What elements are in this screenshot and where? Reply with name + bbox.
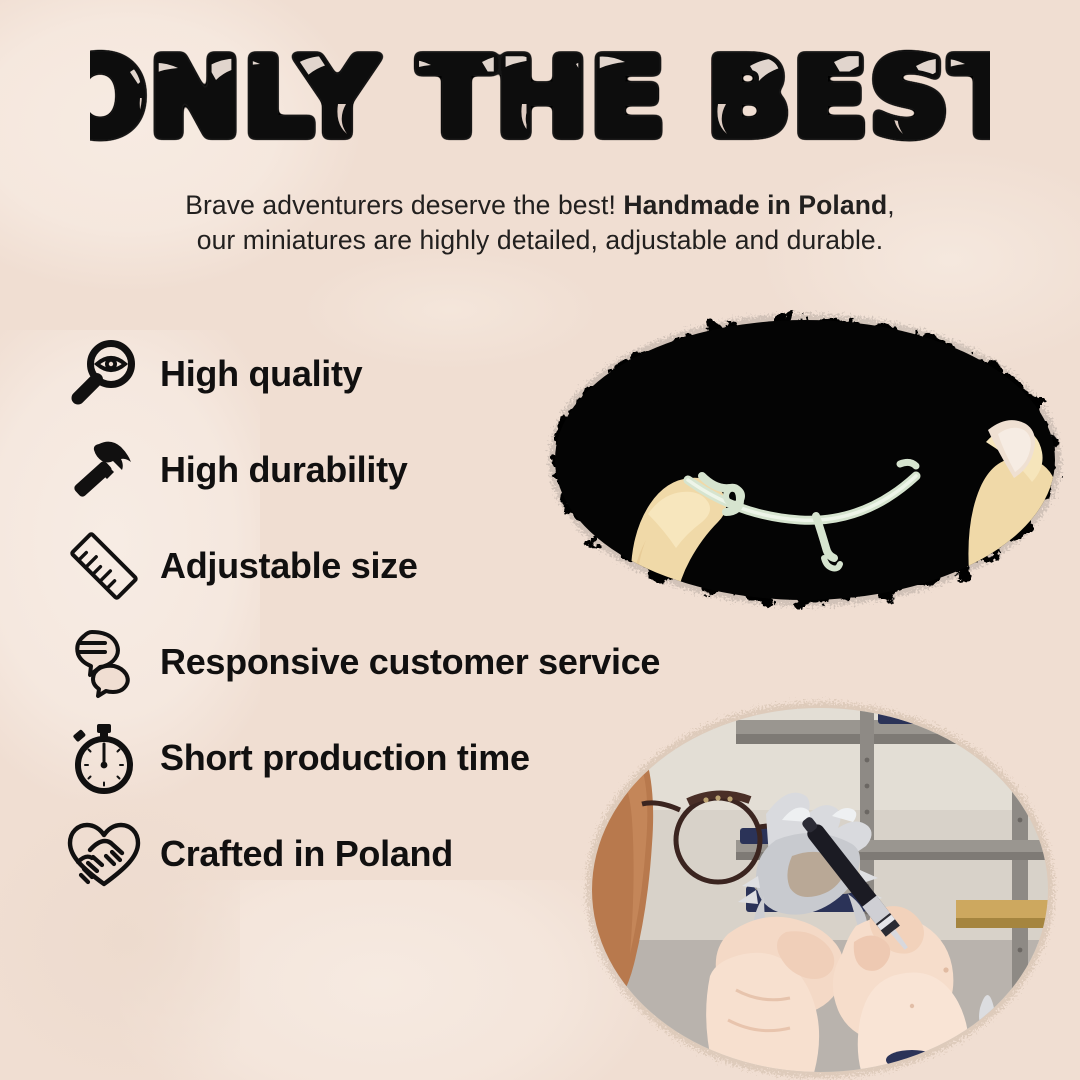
- hammer-icon: [62, 428, 146, 512]
- heart-handshake-icon: [62, 812, 146, 896]
- headline: ONLY THE BEST ONLY THE BEST: [0, 38, 1080, 168]
- feature-label: High quality: [160, 353, 362, 395]
- feature-label: Responsive customer service: [160, 641, 660, 683]
- subheading-highlight: Handmade in Poland: [623, 190, 887, 220]
- stopwatch-icon: [62, 716, 146, 800]
- ruler-icon: [62, 524, 146, 608]
- feature-label: Short production time: [160, 737, 530, 779]
- workshop-painting-photo: [560, 690, 1080, 1080]
- magnifier-eye-icon: [62, 332, 146, 416]
- subheading-line1-tail: ,: [887, 190, 894, 220]
- feature-label: Adjustable size: [160, 545, 418, 587]
- promo-poster: ONLY THE BEST ONLY THE BEST: [0, 0, 1080, 1080]
- feature-label: High durability: [160, 449, 408, 491]
- photo-content: [520, 300, 1080, 640]
- flexible-miniature-photo: [520, 300, 1080, 640]
- subheading: Brave adventurers deserve the best! Hand…: [60, 188, 1020, 258]
- subheading-line2: our miniatures are highly detailed, adju…: [197, 225, 884, 255]
- speech-bubbles-icon: [62, 620, 146, 704]
- subheading-line1-plain: Brave adventurers deserve the best!: [185, 190, 623, 220]
- photo-content: [560, 690, 1080, 1080]
- headline-artwork: ONLY THE BEST ONLY THE BEST: [90, 38, 990, 160]
- feature-label: Crafted in Poland: [160, 833, 453, 875]
